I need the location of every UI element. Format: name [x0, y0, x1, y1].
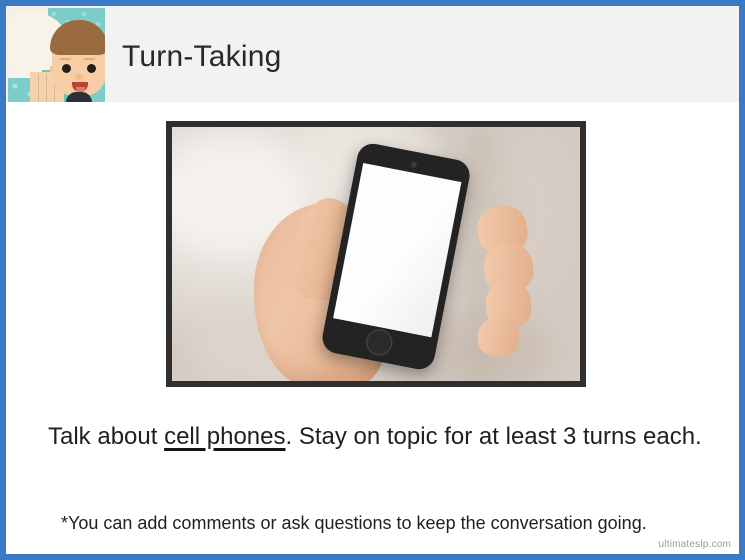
phone-screen-glare	[333, 163, 462, 337]
hand-finger-pinky	[477, 316, 520, 357]
avatar-eyebrow-right	[84, 58, 95, 60]
site-watermark: ultimateslp.com	[659, 539, 731, 550]
phone-home-button	[364, 327, 394, 357]
avatar-eye-right	[87, 64, 96, 73]
avatar-eyebrow-left	[60, 58, 71, 60]
instruction-suffix: . Stay on topic for at least 3 turns eac…	[286, 423, 702, 450]
page-title: Turn-Taking	[122, 40, 281, 74]
main-instruction: Talk about cell phones. Stay on topic fo…	[48, 422, 698, 452]
footnote-text: *You can add comments or ask questions t…	[61, 511, 711, 535]
phone-front-camera	[411, 161, 418, 168]
header-bar: Turn-Taking	[6, 6, 739, 102]
photo-frame	[166, 121, 586, 387]
instruction-prefix: Talk about	[48, 423, 164, 450]
microphone-icon	[66, 92, 92, 102]
cartoon-boy-with-speech-bubble-illustration	[8, 8, 105, 102]
avatar-nose	[75, 74, 83, 80]
hand-holding-smartphone-photo	[172, 127, 580, 381]
instruction-topic: cell phones	[164, 423, 285, 450]
avatar-eye-left	[62, 64, 71, 73]
avatar-hair-fringe	[50, 46, 105, 55]
slide-canvas: Turn-Taking Talk about cell phones	[0, 0, 745, 560]
